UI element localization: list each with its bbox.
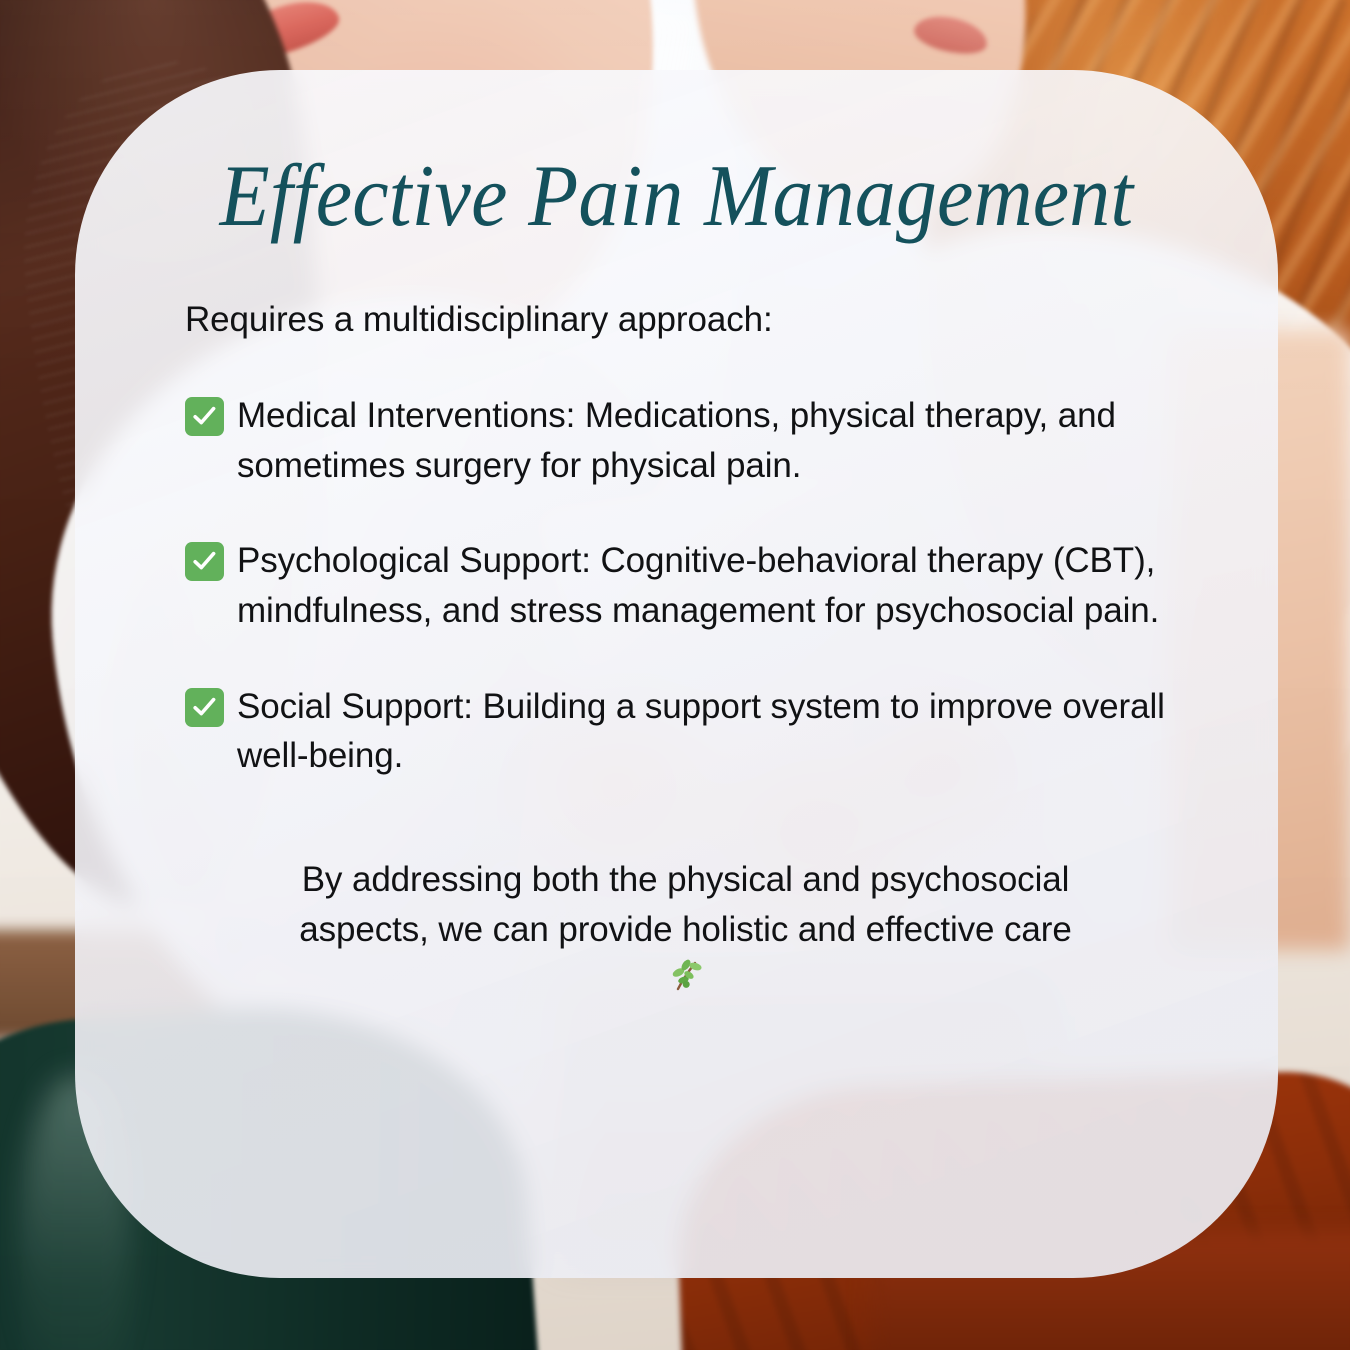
list-item: Medical Interventions: Medications, phys… (185, 391, 1170, 490)
lead-text: Requires a multidisciplinary approach: (185, 295, 1170, 345)
check-mark-button-icon (185, 688, 224, 727)
list-item-label: Social Support: Building a support syste… (237, 682, 1170, 781)
list-item-label: Medical Interventions: Medications, phys… (237, 391, 1170, 490)
closing-line-1: By addressing both the physical and psyc… (207, 855, 1164, 905)
closing-paragraph: By addressing both the physical and psyc… (185, 855, 1170, 996)
check-mark-button-icon (185, 397, 224, 436)
content-card-inner: Effective Pain Management Requires a mul… (75, 70, 1278, 1278)
page-title: Effective Pain Management (173, 128, 1180, 243)
check-mark-button-icon (185, 542, 224, 581)
card-body: Requires a multidisciplinary approach: M… (135, 295, 1218, 996)
content-card: Effective Pain Management Requires a mul… (75, 70, 1278, 1278)
list-item-label: Psychological Support: Cognitive-behavio… (237, 536, 1170, 635)
herb-icon (207, 956, 1164, 996)
closing-line-2: aspects, we can provide holistic and eff… (207, 905, 1164, 955)
list-item: Psychological Support: Cognitive-behavio… (185, 536, 1170, 635)
list-item: Social Support: Building a support syste… (185, 682, 1170, 781)
